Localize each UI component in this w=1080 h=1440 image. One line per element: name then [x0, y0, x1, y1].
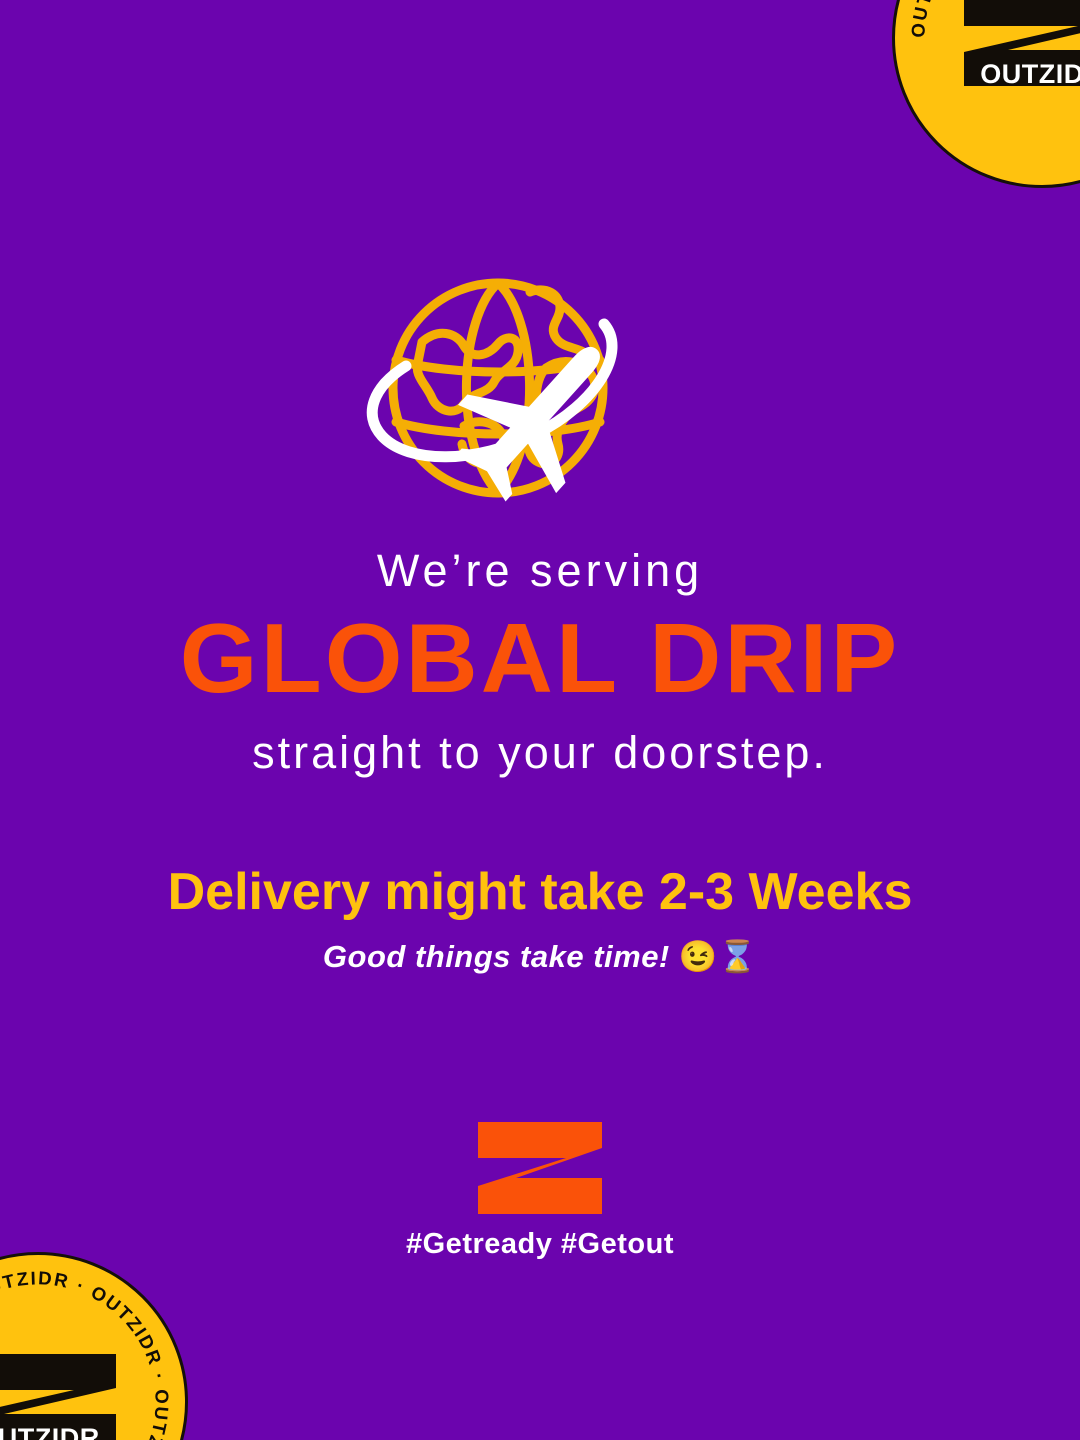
badge-core-top-right: OUTZIDR — [958, 0, 1080, 90]
eyebrow-text: We’re serving — [0, 545, 1080, 597]
badge-core-bottom-left: OUTZIDR — [0, 1350, 122, 1440]
delivery-note-text: Delivery might take 2-3 Weeks — [0, 864, 1080, 921]
hashtags-text: #Getready #Getout — [0, 1228, 1080, 1261]
copy-block: We’re serving GLOBAL DRIP straight to yo… — [0, 545, 1080, 975]
reassurance-row: Good things take time! 😉⌛ — [0, 938, 1080, 975]
badge-center-word: OUTZIDR — [0, 1425, 122, 1440]
badge-center-word: OUTZIDR — [958, 61, 1080, 88]
promo-poster: OUTZIDR · OUTZIDR · OUTZIDR · OUTZIDR · … — [0, 0, 1080, 1440]
reassurance-text: Good things take time! — [323, 939, 670, 974]
subline-text: straight to your doorstep. — [0, 727, 1080, 779]
badge-bottom-left: OUTZIDR · OUTZIDR · OUTZIDR · OUTZIDR · … — [0, 1252, 188, 1440]
globe-airplane-icon — [360, 272, 720, 508]
outzidr-z-logo-icon — [478, 1122, 602, 1214]
badge-top-right: OUTZIDR · OUTZIDR · OUTZIDR · OUTZIDR · … — [892, 0, 1080, 188]
wink-hourglass-emoji: 😉⌛ — [679, 939, 757, 974]
headline-text: GLOBAL DRIP — [0, 609, 1080, 709]
footer-block: #Getready #Getout — [0, 1122, 1080, 1261]
